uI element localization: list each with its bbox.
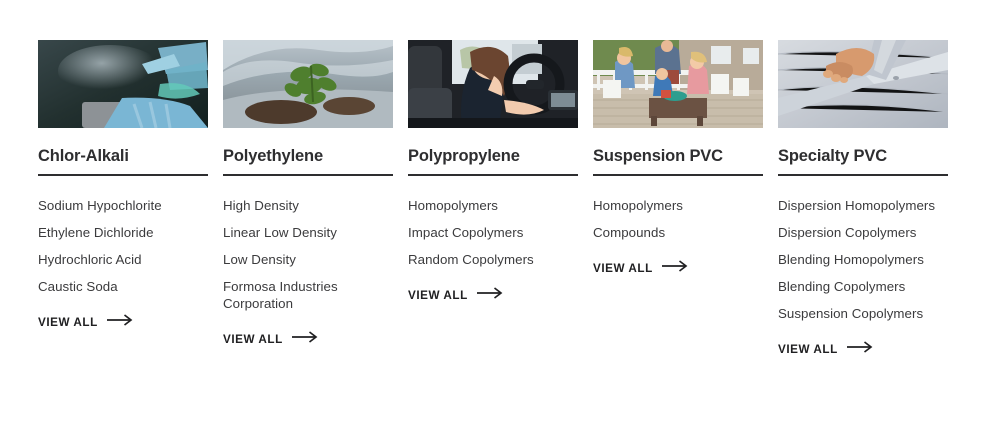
category-link-list: High DensityLinear Low DensityLow Densit… bbox=[223, 197, 393, 322]
category-title-2: Polyethylene bbox=[223, 147, 393, 165]
category-link[interactable]: Impact Copolymers bbox=[408, 224, 578, 241]
category-link[interactable]: Dispersion Homopolymers bbox=[778, 197, 948, 214]
arrow-right-icon bbox=[477, 286, 503, 304]
product-category-column-3: Polypropylene HomopolymersImpact Copolym… bbox=[408, 40, 578, 304]
category-link[interactable]: Low Density bbox=[223, 251, 393, 268]
product-category-column-5: Specialty PVC Dispersion HomopolymersDis… bbox=[778, 40, 948, 358]
category-link[interactable]: Compounds bbox=[593, 224, 763, 241]
view-all-label: VIEW ALL bbox=[223, 333, 283, 346]
category-title-3: Polypropylene bbox=[408, 147, 578, 165]
category-link[interactable]: Homopolymers bbox=[408, 197, 578, 214]
category-link[interactable]: High Density bbox=[223, 197, 393, 214]
arrow-right-icon bbox=[847, 340, 873, 358]
category-link-list: Dispersion HomopolymersDispersion Copoly… bbox=[778, 197, 948, 332]
view-all-label: VIEW ALL bbox=[408, 289, 468, 302]
category-link[interactable]: Blending Copolymers bbox=[778, 278, 948, 295]
category-link[interactable]: Linear Low Density bbox=[223, 224, 393, 241]
category-link[interactable]: Caustic Soda bbox=[38, 278, 208, 295]
category-link[interactable]: Random Copolymers bbox=[408, 251, 578, 268]
category-link-list: Sodium HypochloriteEthylene DichlorideHy… bbox=[38, 197, 208, 305]
arrow-right-icon bbox=[662, 259, 688, 277]
view-all-link-5[interactable]: VIEW ALL bbox=[778, 340, 873, 358]
arrow-right-icon bbox=[292, 330, 318, 348]
view-all-link-4[interactable]: VIEW ALL bbox=[593, 259, 688, 277]
category-title-4: Suspension PVC bbox=[593, 147, 763, 165]
category-link[interactable]: Sodium Hypochlorite bbox=[38, 197, 208, 214]
category-link-list: HomopolymersImpact CopolymersRandom Copo… bbox=[408, 197, 578, 278]
category-link[interactable]: Blending Homopolymers bbox=[778, 251, 948, 268]
arrow-right-icon bbox=[107, 313, 133, 331]
category-link[interactable]: Dispersion Copolymers bbox=[778, 224, 948, 241]
polyethylene-agricultural-film-greenhouse-photo[interactable] bbox=[223, 40, 393, 128]
chlor-alkali-spray-bottle-cleaning-photo[interactable] bbox=[38, 40, 208, 128]
category-link[interactable]: Ethylene Dichloride bbox=[38, 224, 208, 241]
view-all-link-2[interactable]: VIEW ALL bbox=[223, 330, 318, 348]
title-divider bbox=[408, 174, 578, 176]
suspension-pvc-deck-patio-family-photo[interactable] bbox=[593, 40, 763, 128]
category-link[interactable]: Hydrochloric Acid bbox=[38, 251, 208, 268]
product-category-column-4: Suspension PVC HomopolymersCompounds VIE… bbox=[593, 40, 763, 277]
view-all-link-1[interactable]: VIEW ALL bbox=[38, 313, 133, 331]
category-link-list: HomopolymersCompounds bbox=[593, 197, 763, 251]
specialty-pvc-vinyl-flooring-install-photo[interactable] bbox=[778, 40, 948, 128]
product-category-column-2: Polyethylene High DensityLinear Low Dens… bbox=[223, 40, 393, 348]
product-category-column-1: Chlor-Alkali Sodium HypochloriteEthylene… bbox=[38, 40, 208, 331]
category-link[interactable]: Suspension Copolymers bbox=[778, 305, 948, 322]
title-divider bbox=[38, 174, 208, 176]
view-all-link-3[interactable]: VIEW ALL bbox=[408, 286, 503, 304]
view-all-label: VIEW ALL bbox=[593, 262, 653, 275]
category-title-1: Chlor-Alkali bbox=[38, 147, 208, 165]
title-divider bbox=[223, 174, 393, 176]
title-divider bbox=[778, 174, 948, 176]
category-link[interactable]: Homopolymers bbox=[593, 197, 763, 214]
view-all-label: VIEW ALL bbox=[778, 343, 838, 356]
view-all-label: VIEW ALL bbox=[38, 316, 98, 329]
polypropylene-car-interior-driver-photo[interactable] bbox=[408, 40, 578, 128]
product-category-grid: Chlor-Alkali Sodium HypochloriteEthylene… bbox=[0, 0, 988, 358]
category-link[interactable]: Formosa Industries Corporation bbox=[223, 278, 393, 312]
category-title-5: Specialty PVC bbox=[778, 147, 948, 165]
title-divider bbox=[593, 174, 763, 176]
